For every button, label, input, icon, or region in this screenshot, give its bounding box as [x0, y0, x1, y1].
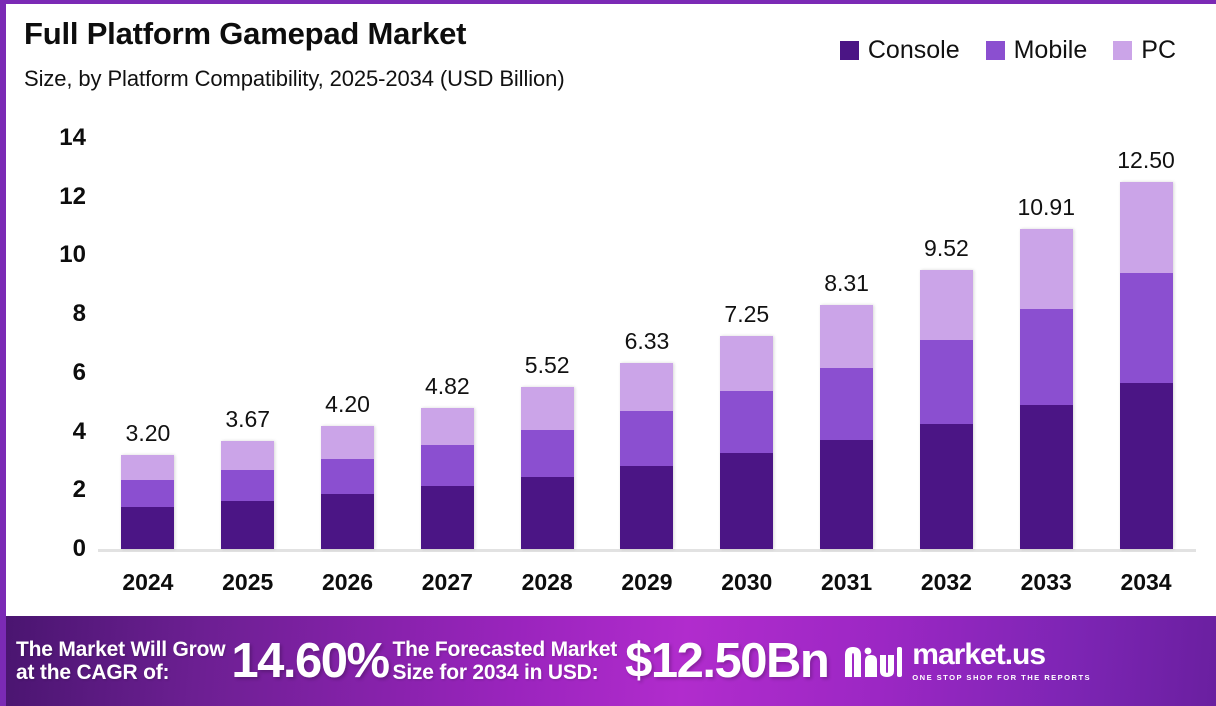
- bar-total-label: 5.52: [525, 352, 570, 379]
- legend-item-pc[interactable]: PC: [1113, 36, 1176, 65]
- bar-group[interactable]: 3.20: [99, 108, 197, 549]
- bar-total-label: 6.33: [625, 328, 670, 355]
- x-axis-tick-2029: 2029: [598, 569, 696, 596]
- bar-series-container: 3.203.674.204.825.526.337.258.319.5210.9…: [98, 108, 1196, 549]
- bar-segment-mobile[interactable]: [1020, 309, 1073, 405]
- bar-segment-pc[interactable]: [321, 426, 374, 459]
- bar-segment-console[interactable]: [1120, 383, 1173, 549]
- forecast-value: $12.50Bn: [625, 633, 828, 689]
- bar-segment-pc[interactable]: [121, 455, 174, 480]
- logo-tagline: ONE STOP SHOP FOR THE REPORTS: [912, 673, 1091, 682]
- bar-total-label: 9.52: [924, 235, 969, 262]
- legend-swatch-pc: [1113, 41, 1132, 60]
- bar-segment-pc[interactable]: [720, 336, 773, 391]
- forecast-label-line2: Size for 2034 in USD:: [393, 661, 618, 684]
- bar-segment-mobile[interactable]: [521, 430, 574, 477]
- cagr-value: 14.60%: [231, 633, 388, 689]
- bar-total-label: 3.67: [225, 406, 270, 433]
- page-title: Full Platform Gamepad Market: [24, 16, 466, 52]
- bar-segment-console[interactable]: [720, 453, 773, 549]
- y-axis-tick: 12: [16, 183, 86, 211]
- bar-segment-pc[interactable]: [620, 363, 673, 411]
- bar-segment-console[interactable]: [521, 477, 574, 549]
- y-axis: 02468101214: [6, 108, 98, 558]
- bar-group[interactable]: 5.52: [498, 108, 596, 549]
- bar-segment-mobile[interactable]: [820, 368, 873, 440]
- bar-group[interactable]: 8.31: [798, 108, 896, 549]
- bar-group[interactable]: 4.82: [398, 108, 496, 549]
- logo-text-block: market.us ONE STOP SHOP FOR THE REPORTS: [912, 640, 1091, 682]
- bar-stack[interactable]: [1120, 182, 1173, 549]
- forecast-label-line1: The Forecasted Market: [393, 638, 618, 661]
- bar-segment-pc[interactable]: [920, 270, 973, 340]
- bar-segment-console[interactable]: [421, 486, 474, 549]
- x-axis-baseline: [98, 549, 1196, 552]
- x-axis-tick-2026: 2026: [299, 569, 397, 596]
- bar-segment-mobile[interactable]: [920, 340, 973, 424]
- bar-total-label: 3.20: [126, 420, 171, 447]
- bar-segment-pc[interactable]: [1020, 229, 1073, 309]
- bar-stack[interactable]: [221, 441, 274, 549]
- cagr-label-block: The Market Will Grow at the CAGR of:: [16, 638, 225, 684]
- bar-stack[interactable]: [720, 336, 773, 549]
- legend-label: Console: [868, 36, 960, 65]
- bar-group[interactable]: 7.25: [698, 108, 796, 549]
- bar-segment-mobile[interactable]: [321, 459, 374, 495]
- bar-group[interactable]: 9.52: [897, 108, 995, 549]
- bar-total-label: 4.20: [325, 391, 370, 418]
- bar-segment-console[interactable]: [221, 501, 274, 549]
- y-axis-tick: 2: [16, 476, 86, 504]
- bar-segment-console[interactable]: [121, 507, 174, 549]
- chart-legend: ConsoleMobilePC: [840, 36, 1176, 65]
- bar-segment-pc[interactable]: [820, 305, 873, 368]
- bar-segment-mobile[interactable]: [1120, 273, 1173, 383]
- cagr-label-line1: The Market Will Grow: [16, 638, 225, 661]
- y-axis-tick: 0: [16, 535, 86, 563]
- bar-group[interactable]: 3.67: [199, 108, 297, 549]
- market-us-logo[interactable]: market.us ONE STOP SHOP FOR THE REPORTS: [842, 640, 1091, 682]
- infographic-page: Full Platform Gamepad Market Size, by Pl…: [0, 0, 1216, 706]
- bar-stack[interactable]: [421, 408, 474, 550]
- bar-total-label: 4.82: [425, 373, 470, 400]
- bar-total-label: 8.31: [824, 270, 869, 297]
- bar-stack[interactable]: [321, 426, 374, 549]
- legend-item-console[interactable]: Console: [840, 36, 960, 65]
- market-us-logo-icon: [842, 641, 904, 681]
- legend-swatch-console: [840, 41, 859, 60]
- y-axis-tick: 14: [16, 124, 86, 152]
- y-axis-tick: 8: [16, 300, 86, 328]
- y-axis-tick: 6: [16, 359, 86, 387]
- bar-stack[interactable]: [820, 305, 873, 549]
- bar-group[interactable]: 10.91: [997, 108, 1095, 549]
- bar-segment-console[interactable]: [1020, 405, 1073, 549]
- bar-segment-console[interactable]: [820, 440, 873, 550]
- chart-header: Full Platform Gamepad Market Size, by Pl…: [6, 4, 1212, 108]
- y-axis-tick: 10: [16, 241, 86, 269]
- bar-segment-mobile[interactable]: [421, 445, 474, 486]
- bar-stack[interactable]: [521, 387, 574, 549]
- x-axis-tick-2033: 2033: [997, 569, 1095, 596]
- page-subtitle: Size, by Platform Compatibility, 2025-20…: [24, 66, 565, 92]
- bar-group[interactable]: 4.20: [299, 108, 397, 549]
- bar-segment-pc[interactable]: [221, 441, 274, 470]
- bar-segment-mobile[interactable]: [221, 470, 274, 501]
- bar-total-label: 7.25: [724, 301, 769, 328]
- x-axis-tick-2027: 2027: [398, 569, 496, 596]
- legend-label: PC: [1141, 36, 1176, 65]
- legend-item-mobile[interactable]: Mobile: [986, 36, 1088, 65]
- bar-group[interactable]: 12.50: [1097, 108, 1195, 549]
- bar-segment-pc[interactable]: [1120, 182, 1173, 273]
- x-axis-tick-2028: 2028: [498, 569, 596, 596]
- x-axis-tick-2031: 2031: [798, 569, 896, 596]
- cagr-label-line2: at the CAGR of:: [16, 661, 225, 684]
- bar-total-label: 12.50: [1117, 147, 1175, 174]
- legend-swatch-mobile: [986, 41, 1005, 60]
- bar-total-label: 10.91: [1017, 194, 1075, 221]
- x-axis-tick-2032: 2032: [897, 569, 995, 596]
- y-axis-tick: 4: [16, 418, 86, 446]
- bar-stack[interactable]: [1020, 229, 1073, 549]
- legend-label: Mobile: [1014, 36, 1088, 65]
- x-axis-tick-2034: 2034: [1097, 569, 1195, 596]
- x-axis-tick-2025: 2025: [199, 569, 297, 596]
- bar-segment-console[interactable]: [321, 494, 374, 549]
- bar-stack[interactable]: [920, 270, 973, 549]
- bar-segment-pc[interactable]: [521, 387, 574, 430]
- bar-stack[interactable]: [620, 363, 673, 549]
- x-axis-tick-2030: 2030: [698, 569, 796, 596]
- chart-plot-area: 02468101214 3.203.674.204.825.526.337.25…: [6, 108, 1212, 608]
- x-axis-tick-2024: 2024: [99, 569, 197, 596]
- bar-segment-mobile[interactable]: [620, 411, 673, 466]
- bar-stack[interactable]: [121, 455, 174, 549]
- bar-segment-pc[interactable]: [421, 408, 474, 446]
- bar-segment-mobile[interactable]: [720, 391, 773, 453]
- logo-wordmark: market.us: [912, 640, 1091, 670]
- bar-segment-console[interactable]: [920, 424, 973, 549]
- bar-segment-mobile[interactable]: [121, 480, 174, 507]
- footer-banner: The Market Will Grow at the CAGR of: 14.…: [6, 616, 1216, 706]
- bar-group[interactable]: 6.33: [598, 108, 696, 549]
- forecast-label-block: The Forecasted Market Size for 2034 in U…: [393, 638, 618, 684]
- bar-segment-console[interactable]: [620, 466, 673, 549]
- x-axis: 2024202520262027202820292030203120322033…: [98, 560, 1196, 604]
